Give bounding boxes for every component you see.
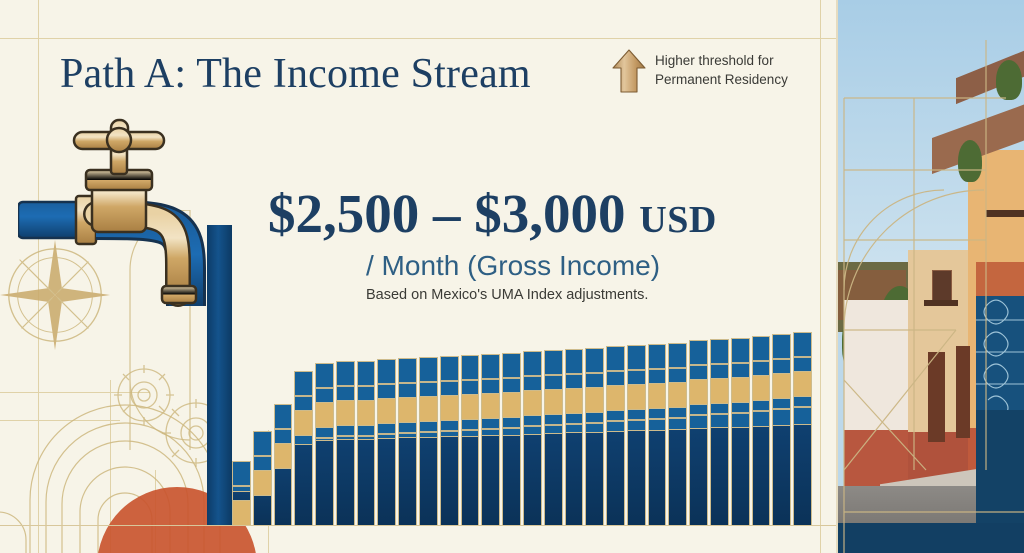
callout-line-2: Permanent Residency <box>655 71 788 90</box>
chart-bar-base <box>545 433 562 525</box>
chart-bar-base <box>732 427 749 525</box>
chart-bar-base <box>295 444 312 525</box>
chart-bar-base <box>649 430 666 525</box>
callout-higher-threshold: Higher threshold for Permanent Residency <box>612 48 788 94</box>
chart-bar-base <box>586 432 603 525</box>
chart-bar-base <box>399 437 416 525</box>
headline-amount: $2,500 – $3,000 USD <box>268 186 717 241</box>
chart-bar <box>253 431 272 525</box>
chart-bar <box>440 356 459 525</box>
chart-bar-base <box>794 424 811 525</box>
chart-bar-threshold-band <box>482 393 499 419</box>
chart-bar-base <box>711 427 728 525</box>
chart-bar-base <box>420 437 437 525</box>
chart-bar-base <box>524 434 541 525</box>
chart-bar <box>627 345 646 525</box>
chart-bar <box>274 404 293 525</box>
photo-left-edge-line <box>836 0 838 553</box>
chart-baseline <box>0 525 836 527</box>
chart-bar <box>648 344 667 525</box>
chart-bar <box>710 339 729 525</box>
chart-bar-threshold-band <box>794 371 811 397</box>
chart-bar-threshold-band <box>586 387 603 413</box>
chart-bar <box>689 340 708 525</box>
chart-bar <box>336 361 355 525</box>
chart-bar-base <box>566 432 583 525</box>
bar-chart <box>232 320 812 525</box>
frame-rule-top <box>0 38 836 39</box>
arrow-up-icon <box>612 48 646 94</box>
chart-bar-threshold-band <box>503 392 520 418</box>
chart-bar-threshold-band <box>628 384 645 410</box>
callout-line-1: Higher threshold for <box>655 52 788 71</box>
deco-rule-a <box>110 380 111 553</box>
chart-bar-base <box>441 436 458 525</box>
chart-bar-base <box>690 428 707 525</box>
deco-rule-e <box>0 420 120 421</box>
chart-bar-threshold-band <box>275 443 292 469</box>
chart-bar-threshold-band <box>545 389 562 415</box>
chart-bar-threshold-band <box>566 388 583 414</box>
chart-bar-threshold-band <box>649 383 666 409</box>
amount-range: $2,500 – $3,000 <box>268 183 639 244</box>
chart-bar-base <box>607 431 624 525</box>
chart-bar-threshold-band <box>233 500 250 526</box>
chart-bar <box>419 357 438 525</box>
chart-bar-threshold-band <box>295 410 312 436</box>
chart-bar-threshold-band <box>254 470 271 496</box>
chart-bar-threshold-band <box>732 377 749 403</box>
chart-bar-base <box>628 430 645 525</box>
chart-bar-threshold-band <box>441 395 458 421</box>
chart-bar <box>772 334 791 525</box>
chart-bar-threshold-band <box>399 397 416 423</box>
chart-bar-threshold-band <box>711 378 728 404</box>
callout-text: Higher threshold for Permanent Residency <box>655 52 788 89</box>
chart-bar <box>377 359 396 525</box>
chart-bar-threshold-band <box>669 382 686 408</box>
chart-bar-threshold-band <box>337 400 354 426</box>
chart-bar <box>565 349 584 525</box>
chart-bar <box>502 353 521 525</box>
headline-basis: Based on Mexico's UMA Index adjustments. <box>366 287 648 303</box>
chart-bar-base <box>669 429 686 525</box>
chart-bar-threshold-band <box>773 373 790 399</box>
chart-bar-base <box>316 440 333 525</box>
chart-bar <box>731 338 750 525</box>
chart-bar-base <box>275 461 292 525</box>
chart-bar-threshold-band <box>690 379 707 405</box>
chart-bar <box>544 350 563 525</box>
chart-bar-base <box>358 439 375 525</box>
chart-bar-threshold-band <box>420 396 437 422</box>
chart-bar-base <box>378 438 395 525</box>
chart-bar-threshold-band <box>753 375 770 401</box>
amount-currency: USD <box>639 199 717 241</box>
chart-bar-base <box>503 435 520 525</box>
chart-bar-base <box>773 425 790 525</box>
chart-bar <box>315 363 334 525</box>
chart-bar-threshold-band <box>524 390 541 416</box>
headline-period: / Month (Gross Income) <box>366 250 660 282</box>
chart-bar-threshold-band <box>378 398 395 424</box>
page-title: Path A: The Income Stream <box>60 50 531 98</box>
chart-bar <box>752 336 771 525</box>
chart-bar <box>357 361 376 525</box>
chart-bar <box>585 348 604 525</box>
deco-rule-d <box>0 392 150 393</box>
chart-bar <box>398 358 417 525</box>
chart-bar-threshold-band <box>607 385 624 411</box>
infographic-slide: Path A: The Income Stream Higher thresho… <box>0 0 1024 553</box>
photo-panel <box>836 0 1024 553</box>
water-stream <box>207 225 232 525</box>
chart-bar <box>481 354 500 525</box>
chart-bar <box>461 355 480 525</box>
chart-bar-base <box>462 436 479 525</box>
chart-bar-base <box>337 439 354 525</box>
chart-bar <box>294 371 313 525</box>
photo-gold-overlay <box>836 0 1024 553</box>
chart-bar <box>606 346 625 525</box>
chart-bar-threshold-band <box>358 400 375 426</box>
frame-rule-right <box>820 0 821 553</box>
main-canvas: Path A: The Income Stream Higher thresho… <box>0 0 836 553</box>
chart-bar <box>232 461 251 525</box>
chart-bar <box>793 332 812 525</box>
chart-bar-base <box>753 426 770 525</box>
chart-bar-base <box>482 435 499 525</box>
chart-bar <box>668 343 687 525</box>
chart-bar-threshold-band <box>462 394 479 420</box>
chart-bar <box>523 351 542 525</box>
deco-rule-b <box>155 470 156 553</box>
chart-bar-threshold-band <box>316 402 333 428</box>
